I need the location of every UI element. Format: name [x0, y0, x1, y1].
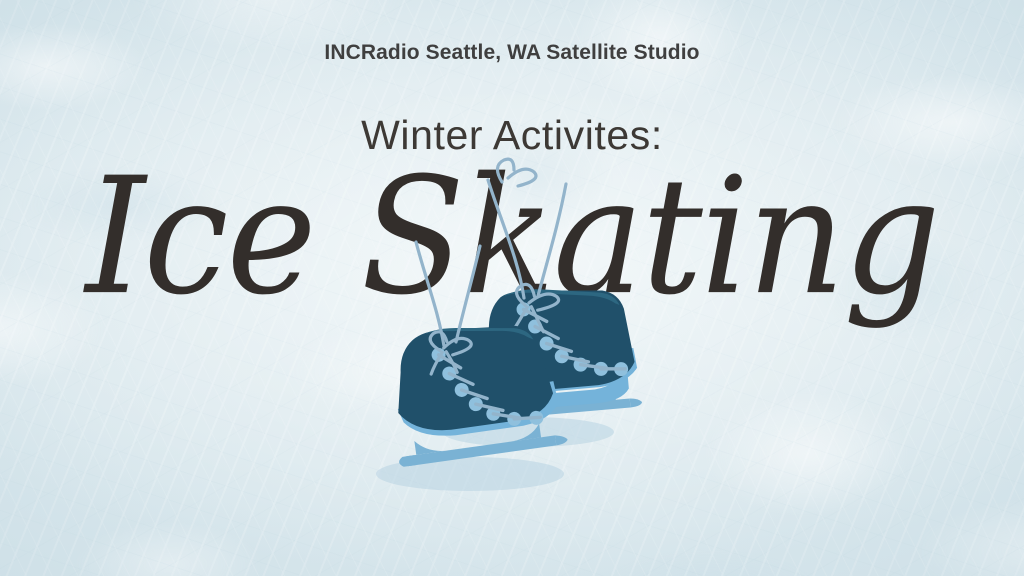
slide-canvas: INCRadio Seattle, WA Satellite Studio Wi… — [0, 0, 1024, 576]
station-kicker-text: INCRadio Seattle, WA Satellite Studio — [0, 41, 1024, 65]
ice-skates-illustration — [352, 236, 652, 526]
series-subtitle-text: Winter Activites: — [0, 112, 1024, 159]
